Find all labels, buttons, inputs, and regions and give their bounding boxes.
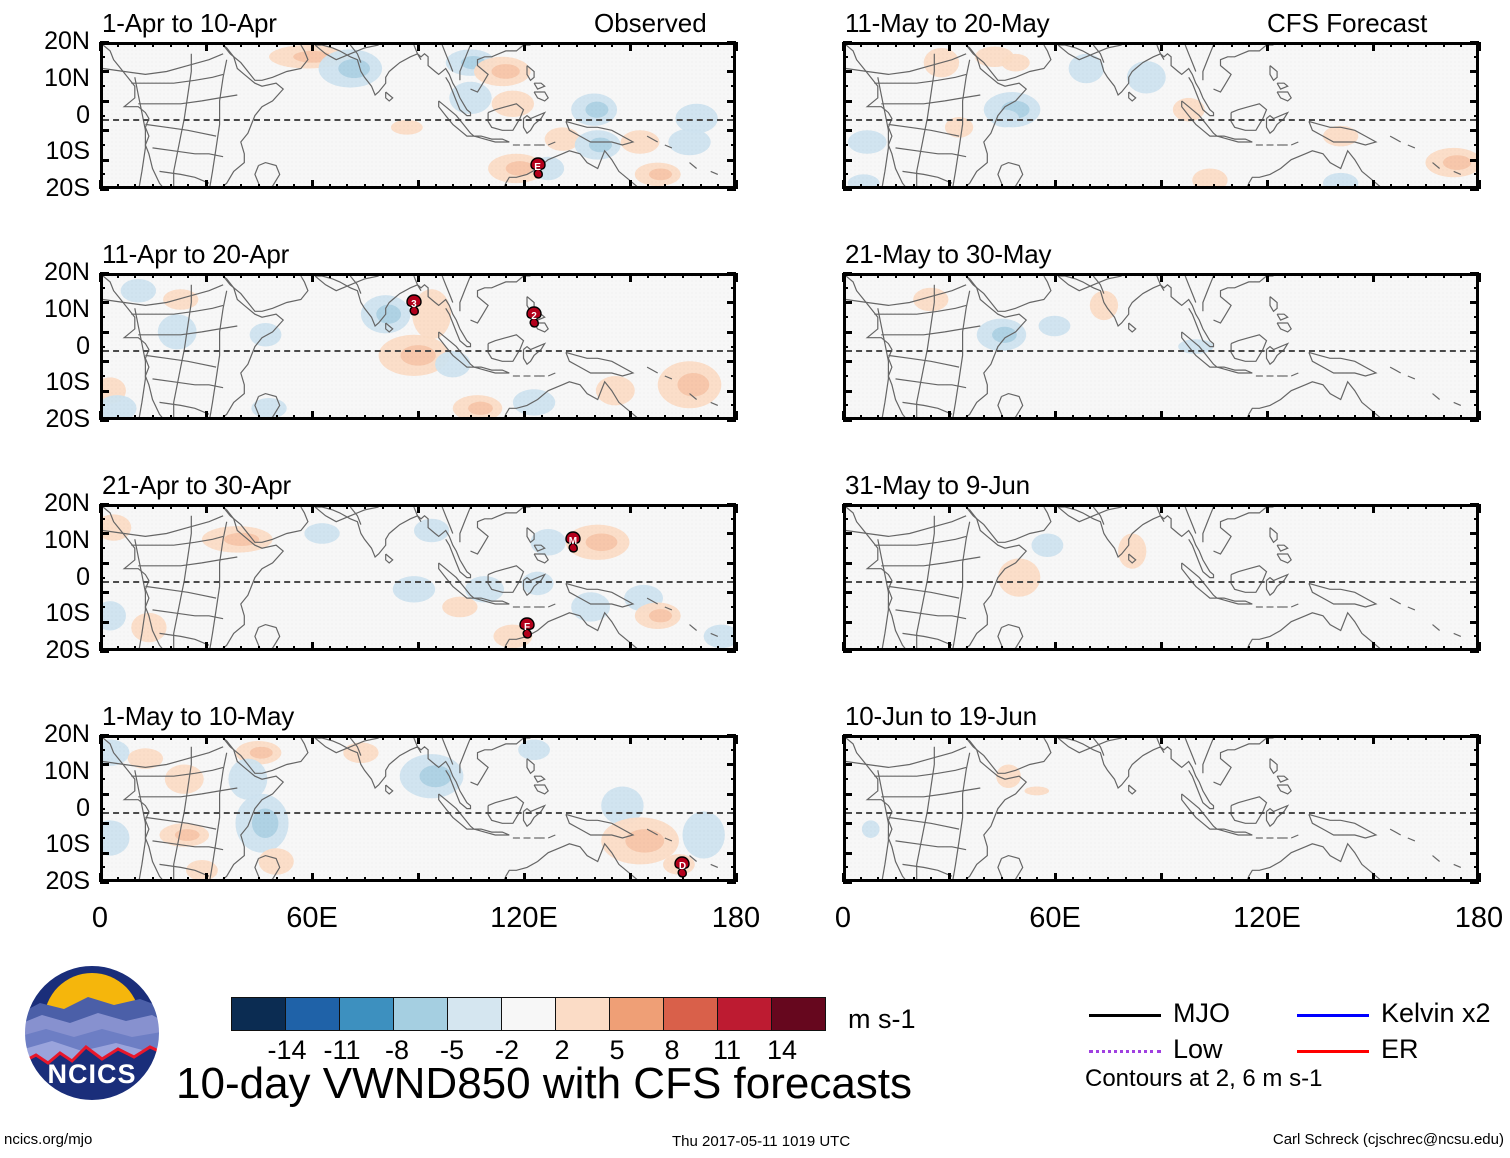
x-tick [948, 735, 951, 744]
y-tick [1470, 562, 1479, 565]
x-tick [1036, 877, 1038, 882]
x-tick [223, 42, 225, 47]
x-tick [329, 735, 331, 740]
y-axis-label: 20N [0, 260, 90, 285]
x-tick [1443, 877, 1445, 882]
equator-line [103, 812, 733, 814]
equator-line [103, 581, 733, 583]
x-tick [1354, 735, 1356, 740]
x-tick [346, 273, 348, 278]
legend-label-kelvin-x2: Kelvin x2 [1381, 1000, 1491, 1027]
y-tick [1474, 547, 1479, 549]
x-tick [134, 42, 136, 47]
x-tick [1195, 273, 1197, 278]
x-tick [346, 42, 348, 47]
colorbar-swatches [232, 997, 826, 1031]
y-tick [843, 360, 852, 363]
x-tick [576, 273, 578, 278]
x-tick [399, 415, 401, 420]
y-tick [843, 70, 852, 73]
x-tick [594, 415, 596, 420]
x-tick [1107, 42, 1109, 47]
x-tick [1001, 646, 1003, 651]
x-tick [647, 184, 649, 189]
x-tick [611, 42, 613, 47]
x-tick [1407, 415, 1409, 420]
legend-swatch-low [1089, 1050, 1161, 1053]
y-tick [100, 100, 109, 103]
x-tick [452, 42, 454, 47]
x-tick [1089, 646, 1091, 651]
x-tick [1213, 273, 1215, 278]
y-tick [100, 331, 109, 334]
x-tick [877, 273, 879, 278]
y-tick [843, 115, 848, 117]
x-tick [293, 504, 295, 509]
x-tick [1248, 42, 1250, 47]
x-tick [717, 504, 719, 509]
x-tick [1337, 735, 1339, 740]
x-tick [117, 415, 119, 420]
y-tick [100, 70, 109, 73]
x-tick [1036, 184, 1038, 189]
y-tick [843, 331, 852, 334]
y-tick [843, 635, 848, 637]
y-tick [1470, 159, 1479, 162]
y-tick [100, 375, 105, 377]
y-tick [843, 778, 848, 780]
x-tick [258, 504, 260, 509]
x-tick [364, 504, 366, 509]
x-tick [1248, 735, 1250, 740]
x-tick [1319, 273, 1321, 278]
x-tick [417, 873, 420, 882]
x-tick [1231, 504, 1233, 509]
equator-line [846, 812, 1476, 814]
y-tick [100, 808, 105, 810]
x-tick [983, 42, 985, 47]
x-tick [187, 415, 189, 420]
x-tick [435, 184, 437, 189]
x-tick [1372, 642, 1375, 651]
x-tick [1248, 273, 1250, 278]
x-tick [329, 273, 331, 278]
cyclone-marker: E [527, 155, 549, 181]
y-tick [727, 159, 736, 162]
colorbar-segment [501, 997, 556, 1031]
x-tick [983, 184, 985, 189]
x-tick [895, 42, 897, 47]
x-tick [860, 877, 862, 882]
x-tick [329, 42, 331, 47]
x-tick [1337, 504, 1339, 509]
x-tick [1372, 411, 1375, 420]
x-tick [1089, 184, 1091, 189]
y-axis-label: 20N [0, 491, 90, 516]
x-tick [1107, 877, 1109, 882]
x-tick [435, 877, 437, 882]
x-tick [717, 42, 719, 47]
x-tick [1372, 42, 1375, 51]
x-tick [1072, 184, 1074, 189]
x-tick [1390, 646, 1392, 651]
x-tick [1266, 273, 1269, 282]
y-axis-label: 10N [0, 66, 90, 91]
x-tick [417, 273, 420, 282]
x-tick [1036, 646, 1038, 651]
x-tick [152, 646, 154, 651]
footer-right: Carl Schreck (cjschrec@ncsu.edu) [1273, 1132, 1504, 1147]
x-tick [966, 184, 968, 189]
y-tick [100, 316, 105, 318]
y-tick [843, 272, 852, 275]
x-tick [541, 42, 543, 47]
x-tick [647, 504, 649, 509]
x-tick [700, 877, 702, 882]
x-tick [505, 877, 507, 882]
x-tick [877, 735, 879, 740]
x-tick [983, 273, 985, 278]
y-tick [100, 881, 109, 884]
y-tick [100, 173, 105, 175]
x-tick [170, 415, 172, 420]
x-tick [682, 877, 684, 882]
x-tick [505, 184, 507, 189]
x-tick [382, 735, 384, 740]
x-tick [1354, 504, 1356, 509]
footer-center: Thu 2017-05-11 1019 UTC [672, 1134, 850, 1149]
x-tick [983, 646, 985, 651]
colorbar-segment [285, 997, 340, 1031]
y-axis-label: 10S [0, 832, 90, 857]
y-tick [731, 635, 736, 637]
y-axis-label: 0 [0, 565, 90, 590]
y-tick [1474, 837, 1479, 839]
x-tick [1284, 646, 1286, 651]
x-tick [311, 273, 314, 282]
y-tick [843, 173, 848, 175]
x-tick [293, 877, 295, 882]
x-tick [170, 877, 172, 882]
x-tick [895, 415, 897, 420]
x-tick [1089, 877, 1091, 882]
y-axis-label: 20S [0, 407, 90, 432]
x-tick [205, 504, 208, 513]
y-tick [727, 188, 736, 191]
x-tick [1195, 415, 1197, 420]
y-tick [727, 331, 736, 334]
x-tick [1319, 415, 1321, 420]
x-tick [1390, 735, 1392, 740]
x-tick [966, 42, 968, 47]
x-tick [1036, 504, 1038, 509]
y-tick [1474, 635, 1479, 637]
y-tick [843, 621, 852, 624]
x-tick [1178, 42, 1180, 47]
x-tick [417, 735, 420, 744]
x-tick [1443, 42, 1445, 47]
x-tick [717, 415, 719, 420]
x-tick [682, 504, 684, 509]
y-tick [1470, 852, 1479, 855]
x-tick [1337, 184, 1339, 189]
x-tick [505, 42, 507, 47]
x-tick [505, 735, 507, 740]
x-tick [1354, 877, 1356, 882]
x-tick [1001, 735, 1003, 740]
x-tick [470, 735, 472, 740]
panel-title-obs-4: 1-May to 10-May [102, 703, 294, 729]
y-tick [727, 129, 736, 132]
x-tick [187, 504, 189, 509]
x-tick [629, 411, 632, 420]
footer-left[interactable]: ncics.org/mjo [4, 1132, 92, 1147]
x-tick [1107, 735, 1109, 740]
x-tick [594, 184, 596, 189]
x-tick [717, 273, 719, 278]
x-tick [895, 273, 897, 278]
x-tick [1107, 273, 1109, 278]
x-tick [276, 877, 278, 882]
x-tick [877, 877, 879, 882]
y-tick [100, 621, 109, 624]
x-axis-label: 60E [262, 904, 362, 933]
x-tick [523, 735, 526, 744]
x-tick [629, 42, 632, 51]
y-tick [843, 129, 852, 132]
x-tick [399, 504, 401, 509]
y-tick [100, 41, 109, 44]
x-tick [1019, 735, 1021, 740]
panel-title-obs-1: 1-Apr to 10-Apr [102, 10, 277, 36]
y-tick [1470, 621, 1479, 624]
y-tick [843, 650, 852, 653]
x-tick [629, 735, 632, 744]
x-tick [1319, 42, 1321, 47]
x-tick [205, 42, 208, 51]
y-tick [727, 41, 736, 44]
x-tick [1266, 873, 1269, 882]
colorbar-segment [393, 997, 448, 1031]
y-tick [843, 749, 848, 751]
x-tick [1301, 415, 1303, 420]
y-tick [843, 532, 852, 535]
y-tick [731, 56, 736, 58]
y-tick [843, 159, 852, 162]
x-tick [913, 415, 915, 420]
y-tick [1474, 404, 1479, 406]
x-tick [435, 646, 437, 651]
x-tick [329, 504, 331, 509]
x-tick [1001, 415, 1003, 420]
x-tick [1460, 646, 1462, 651]
x-tick [717, 646, 719, 651]
x-tick [611, 273, 613, 278]
x-tick [134, 646, 136, 651]
y-tick [100, 346, 105, 348]
y-tick [727, 852, 736, 855]
y-tick [843, 287, 848, 289]
x-tick [647, 273, 649, 278]
x-tick [647, 415, 649, 420]
x-tick [717, 877, 719, 882]
colorbar-segment [555, 997, 610, 1031]
x-tick [1425, 877, 1427, 882]
x-tick [1284, 42, 1286, 47]
x-tick [240, 184, 242, 189]
y-tick [1470, 129, 1479, 132]
x-tick [1460, 735, 1462, 740]
x-tick [452, 273, 454, 278]
x-tick [364, 184, 366, 189]
x-tick [664, 273, 666, 278]
y-tick [100, 778, 105, 780]
x-tick [1443, 735, 1445, 740]
y-tick [1470, 419, 1479, 422]
x-tick [187, 735, 189, 740]
x-tick [329, 877, 331, 882]
x-tick [399, 273, 401, 278]
y-tick [1470, 188, 1479, 191]
colorbar-segment [447, 997, 502, 1031]
x-tick [117, 504, 119, 509]
x-tick [187, 184, 189, 189]
x-tick [523, 411, 526, 420]
x-tick [895, 646, 897, 651]
x-tick [346, 735, 348, 740]
x-tick [1266, 180, 1269, 189]
x-tick [240, 735, 242, 740]
x-tick [523, 642, 526, 651]
x-tick [1460, 877, 1462, 882]
y-tick [100, 793, 109, 796]
y-tick [731, 547, 736, 549]
x-tick [1160, 642, 1163, 651]
x-tick [1407, 273, 1409, 278]
x-tick [1107, 415, 1109, 420]
x-tick [1107, 504, 1109, 509]
x-tick [966, 504, 968, 509]
x-tick [1425, 735, 1427, 740]
colorbar-segment [339, 997, 394, 1031]
equator-line [103, 350, 733, 352]
x-tick [1089, 735, 1091, 740]
y-tick [843, 518, 848, 520]
x-tick [417, 411, 420, 420]
x-tick [240, 504, 242, 509]
x-tick [558, 646, 560, 651]
y-tick [100, 404, 105, 406]
x-tick [382, 504, 384, 509]
y-tick [100, 85, 105, 87]
y-tick [727, 70, 736, 73]
y-tick [100, 763, 109, 766]
cyclone-marker: F [516, 615, 538, 641]
x-tick [293, 735, 295, 740]
x-tick [293, 184, 295, 189]
x-tick [1425, 415, 1427, 420]
x-tick [435, 42, 437, 47]
x-tick [877, 42, 879, 47]
x-tick [346, 415, 348, 420]
colorbar-segment [231, 997, 286, 1031]
x-tick [930, 646, 932, 651]
y-tick [731, 115, 736, 117]
x-tick [664, 184, 666, 189]
x-tick [558, 273, 560, 278]
x-tick [611, 735, 613, 740]
y-tick [1474, 85, 1479, 87]
x-tick [293, 646, 295, 651]
x-tick [452, 415, 454, 420]
x-tick [895, 735, 897, 740]
y-tick [100, 287, 105, 289]
y-tick [843, 547, 848, 549]
x-tick [223, 877, 225, 882]
x-tick [488, 504, 490, 509]
y-tick [843, 808, 848, 810]
x-tick [1213, 504, 1215, 509]
x-tick [258, 646, 260, 651]
x-tick [417, 42, 420, 51]
x-tick [1019, 42, 1021, 47]
y-tick [727, 793, 736, 796]
y-tick [727, 360, 736, 363]
x-tick [152, 42, 154, 47]
y-tick [731, 808, 736, 810]
x-tick [1072, 646, 1074, 651]
x-tick [1354, 415, 1356, 420]
x-tick [364, 273, 366, 278]
x-tick [541, 184, 543, 189]
y-tick [727, 100, 736, 103]
x-tick [452, 504, 454, 509]
x-tick [1054, 411, 1057, 420]
x-tick [948, 411, 951, 420]
x-tick [1072, 504, 1074, 509]
x-tick [717, 735, 719, 740]
y-tick [1470, 100, 1479, 103]
x-tick [258, 735, 260, 740]
x-tick [117, 273, 119, 278]
y-tick [727, 272, 736, 275]
y-tick [1470, 331, 1479, 334]
y-tick [100, 749, 105, 751]
x-tick [1125, 646, 1127, 651]
x-tick [488, 273, 490, 278]
y-tick [727, 419, 736, 422]
x-tick [629, 504, 632, 513]
x-tick [452, 877, 454, 882]
x-tick [594, 735, 596, 740]
x-tick [611, 415, 613, 420]
x-tick [1142, 735, 1144, 740]
x-tick [594, 646, 596, 651]
panel-title-obs-3: 21-Apr to 30-Apr [102, 472, 291, 498]
y-tick [1474, 346, 1479, 348]
panel-title-cfs-3: 31-May to 9-Jun [845, 472, 1030, 498]
x-tick [1337, 42, 1339, 47]
x-tick [382, 415, 384, 420]
x-tick [170, 42, 172, 47]
x-tick [346, 877, 348, 882]
x-tick [860, 273, 862, 278]
x-tick [913, 735, 915, 740]
x-tick [1195, 42, 1197, 47]
x-tick [860, 184, 862, 189]
x-tick [1248, 504, 1250, 509]
x-tick [311, 642, 314, 651]
